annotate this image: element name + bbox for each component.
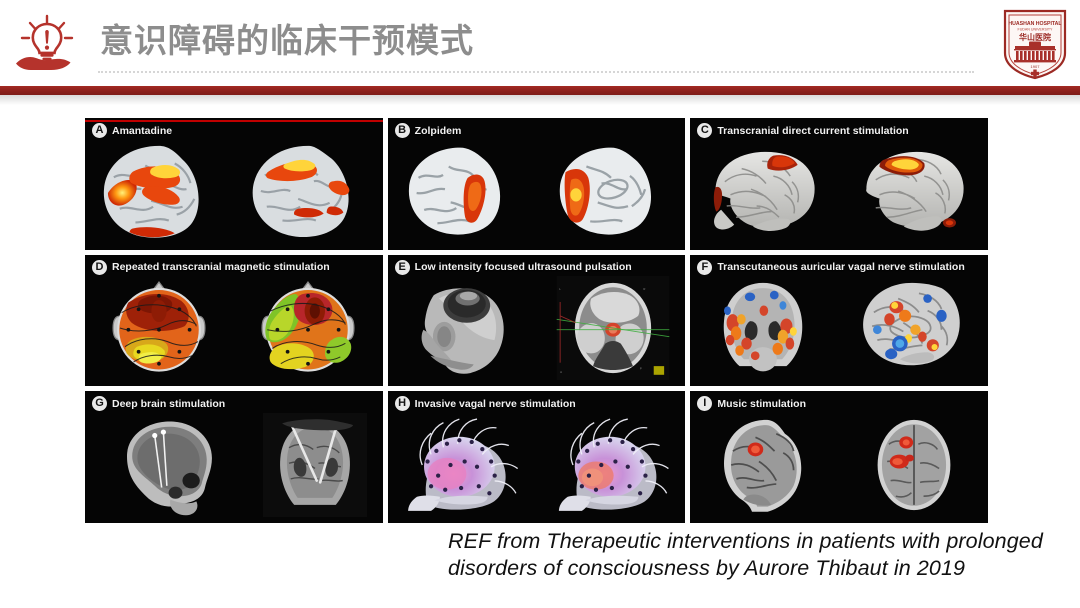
panel-i-images xyxy=(690,409,988,521)
panel-b-title: Zolpidem xyxy=(415,125,462,137)
lightbulb-in-hand-icon xyxy=(14,14,80,70)
skull-xray-lateral xyxy=(95,413,237,517)
eeg-topomap-right xyxy=(252,277,364,379)
reference-caption: REF from Therapeutic interventions in pa… xyxy=(448,528,1060,582)
intervention-figure: A Amantadine xyxy=(85,118,988,523)
header-accent-bar xyxy=(0,86,1080,95)
eeg-source-head-right xyxy=(540,412,682,518)
panel-c-images xyxy=(690,136,988,248)
panel-a-title: Amantadine xyxy=(112,125,172,137)
svg-text:HUASHAN HOSPITAL: HUASHAN HOSPITAL xyxy=(1008,21,1062,27)
fmri-axial-music xyxy=(852,413,976,517)
figure-panel-a: A Amantadine xyxy=(85,118,383,250)
svg-text:FUDAN UNIVERSITY: FUDAN UNIVERSITY xyxy=(1018,28,1054,32)
head-3d-render-with-transducer xyxy=(396,276,534,380)
panel-d-title: Repeated transcranial magnetic stimulati… xyxy=(112,261,330,273)
pet-brain-sagittal-right xyxy=(238,138,378,246)
figure-panel-i: I Music stimulation xyxy=(690,391,988,523)
pet-brain-zolpidem-left xyxy=(395,140,529,244)
fmri-coronal-activation xyxy=(701,276,825,380)
svg-text:P: P xyxy=(640,367,642,371)
svg-text:A: A xyxy=(561,371,563,375)
svg-text:华山医院: 华山医院 xyxy=(1019,32,1051,42)
figure-panel-grid: A Amantadine xyxy=(85,118,988,523)
panel-g-images xyxy=(85,409,383,521)
panel-b-images xyxy=(388,136,686,248)
figure-panel-f: F Transcutaneous auricular vagal nerve s… xyxy=(690,255,988,387)
svg-text:1907: 1907 xyxy=(1031,64,1041,69)
mri-axial-with-target: RL PA xyxy=(549,276,677,380)
panel-e-images: RL PA xyxy=(388,273,686,385)
panel-h-title: Invasive vagal nerve stimulation xyxy=(415,398,576,410)
panel-c-title: Transcranial direct current stimulation xyxy=(717,125,908,137)
eeg-topomap-left xyxy=(103,277,215,379)
caption-line-2: disorders of consciousness by Aurore Thi… xyxy=(448,555,1060,582)
panel-f-images xyxy=(690,273,988,385)
panel-h-images xyxy=(388,409,686,521)
svg-text:R: R xyxy=(644,287,646,291)
pet-brain-zolpidem-right xyxy=(544,140,678,244)
figure-panel-g: G Deep brain stimulation xyxy=(85,391,383,523)
eeg-source-head-left xyxy=(391,412,533,518)
mri-coronal-with-electrodes xyxy=(258,413,372,517)
panel-d-images xyxy=(85,273,383,385)
panel-g-title: Deep brain stimulation xyxy=(112,398,225,410)
page-title: 意识障碍的临床干预模式 xyxy=(100,19,474,63)
brain-surface-render-right xyxy=(844,140,984,244)
panel-i-title: Music stimulation xyxy=(717,398,806,410)
caption-line-1: REF from Therapeutic interventions in pa… xyxy=(448,528,1060,555)
panel-a-images xyxy=(85,136,383,248)
fmri-sagittal-music xyxy=(703,413,827,517)
panel-e-title: Low intensity focused ultrasound pulsati… xyxy=(415,261,632,273)
title-underline-dotted xyxy=(98,71,974,73)
figure-panel-h: H Invasive vagal nerve stimulation xyxy=(388,391,686,523)
slide-header: 意识障碍的临床干预模式 HUASHAN HOSPITAL FUDAN UNIVE… xyxy=(0,0,1080,100)
pet-brain-sagittal-left xyxy=(89,138,229,246)
figure-panel-d: D Repeated transcranial magnetic stimula… xyxy=(85,255,383,387)
figure-panel-b: B Zolpidem xyxy=(388,118,686,250)
slide: 意识障碍的临床干预模式 HUASHAN HOSPITAL FUDAN UNIVE… xyxy=(0,0,1080,608)
panel-f-title: Transcutaneous auricular vagal nerve sti… xyxy=(717,261,964,273)
slide-content: A Amantadine xyxy=(0,104,1080,608)
brain-surface-render-left xyxy=(695,140,835,244)
figure-panel-e: E Low intensity focused ultrasound pulsa… xyxy=(388,255,686,387)
figure-panel-c: C Transcranial direct current stimulatio… xyxy=(690,118,988,250)
huashan-hospital-crest-icon: HUASHAN HOSPITAL FUDAN UNIVERSITY 华山医院 xyxy=(1002,8,1068,80)
fmri-sagittal-activation xyxy=(846,276,978,380)
